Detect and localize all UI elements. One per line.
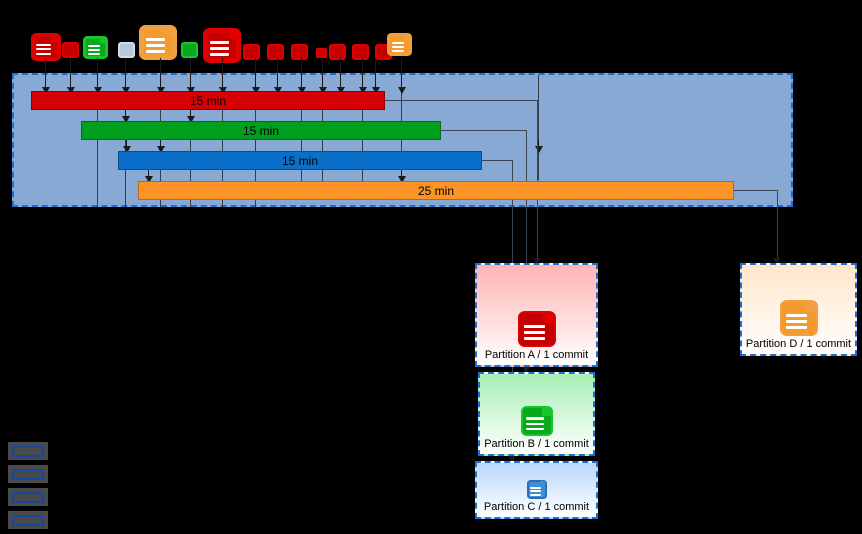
legend-row[interactable] bbox=[8, 488, 48, 506]
document-icon bbox=[243, 44, 260, 60]
document-icon bbox=[521, 406, 553, 436]
document-icon bbox=[329, 44, 346, 60]
document-icon bbox=[139, 25, 177, 60]
bar-red[interactable]: 15 min bbox=[31, 91, 385, 110]
document-icon bbox=[527, 480, 547, 499]
legend-swatch-orange bbox=[12, 515, 44, 526]
document-icon bbox=[181, 42, 198, 58]
connector-orange bbox=[777, 190, 778, 263]
legend-row[interactable] bbox=[8, 465, 48, 483]
document-icon bbox=[780, 300, 818, 336]
input-arrow-line bbox=[45, 58, 46, 88]
document-icon bbox=[83, 36, 108, 59]
partition-caption: Partition A / 1 commit bbox=[485, 349, 588, 365]
bar-duration-label: 15 min bbox=[243, 124, 279, 138]
partition-a[interactable]: Partition A / 1 commit bbox=[475, 263, 598, 367]
bar-duration-label: 15 min bbox=[282, 154, 318, 168]
bar-blue[interactable]: 15 min bbox=[118, 151, 482, 170]
partition-d[interactable]: Partition D / 1 commit bbox=[740, 263, 857, 356]
input-arrow-line bbox=[70, 58, 71, 88]
connector-orange bbox=[734, 190, 778, 191]
legend-swatch-green bbox=[12, 469, 44, 480]
bar-duration-label: 15 min bbox=[190, 94, 226, 108]
partition-c[interactable]: Partition C / 1 commit bbox=[475, 461, 598, 519]
bar-orange[interactable]: 25 min bbox=[138, 181, 734, 200]
document-icon bbox=[267, 44, 284, 60]
document-icon bbox=[118, 42, 135, 58]
bar-green[interactable]: 15 min bbox=[81, 121, 441, 140]
connector-green bbox=[441, 130, 527, 131]
connector-red bbox=[385, 100, 538, 101]
partition-b[interactable]: Partition B / 1 commit bbox=[478, 372, 595, 456]
timeline-guide-line bbox=[538, 75, 539, 180]
document-icon bbox=[352, 44, 369, 60]
input-arrow-line bbox=[375, 58, 376, 88]
connector-blue bbox=[482, 160, 513, 161]
partition-caption: Partition B / 1 commit bbox=[484, 438, 589, 454]
legend-row[interactable] bbox=[8, 442, 48, 460]
input-arrow-line bbox=[277, 58, 278, 88]
legend-row[interactable] bbox=[8, 511, 48, 529]
bar-duration-label: 25 min bbox=[418, 184, 454, 198]
document-icon bbox=[62, 42, 79, 58]
document-icon bbox=[518, 311, 556, 347]
diagram-canvas: 15 min15 min15 min25 min Partition A / 1… bbox=[0, 0, 862, 528]
document-icon bbox=[31, 33, 61, 61]
document-icon bbox=[387, 33, 412, 56]
partition-caption: Partition C / 1 commit bbox=[484, 501, 589, 517]
document-icon bbox=[291, 44, 308, 60]
document-icon bbox=[316, 48, 327, 58]
input-arrow-line bbox=[340, 58, 341, 88]
partition-caption: Partition D / 1 commit bbox=[746, 338, 851, 354]
legend-swatch-blue bbox=[12, 492, 44, 503]
legend-swatch-red bbox=[12, 446, 44, 457]
legend bbox=[8, 442, 48, 534]
